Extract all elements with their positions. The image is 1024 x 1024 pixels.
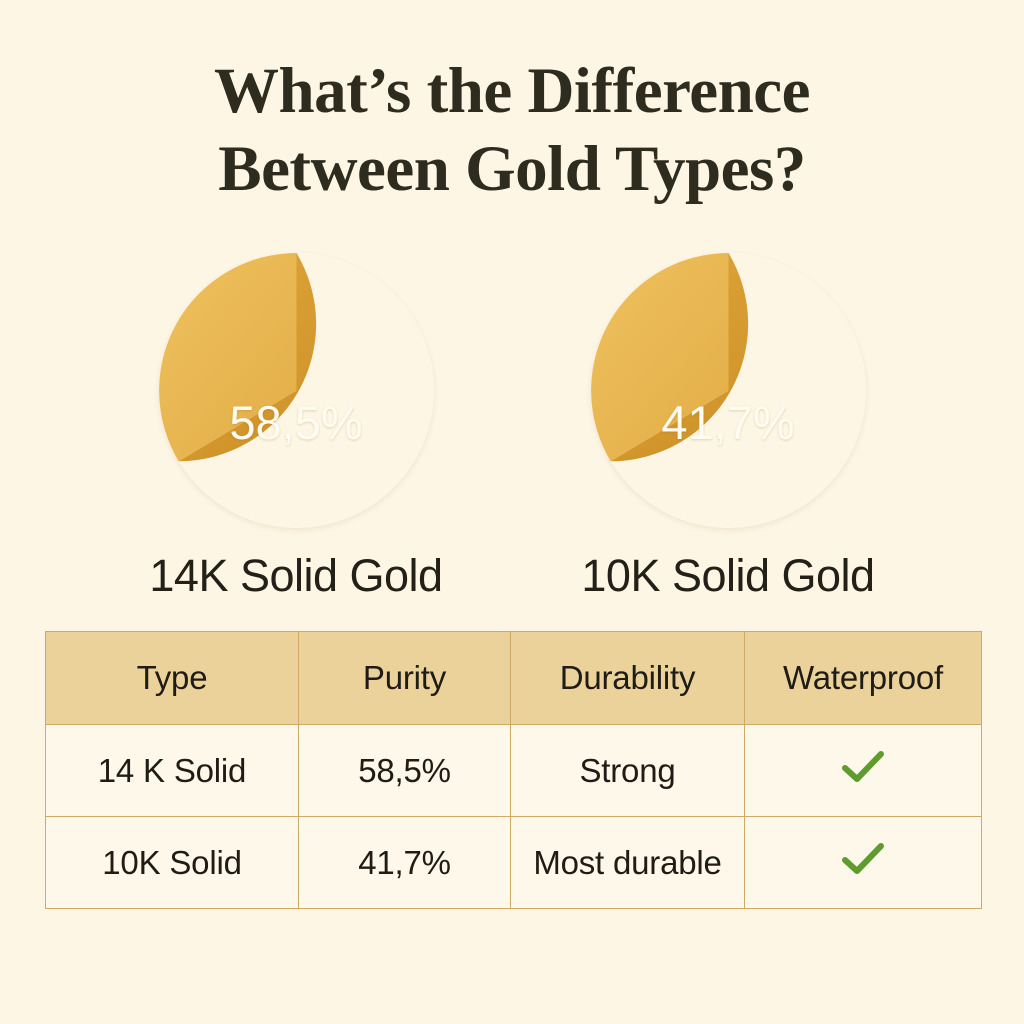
- cell-purity: 58,5%: [299, 725, 511, 817]
- chart-unit-10k: 41,7% 10K Solid Gold: [513, 253, 943, 602]
- table-header-row: Type Purity Durability Waterproof: [46, 632, 982, 725]
- table-row: 10K Solid 41,7% Most durable: [46, 817, 982, 909]
- table-row: 14 K Solid 58,5% Strong: [46, 725, 982, 817]
- check-icon: [842, 750, 884, 784]
- table-header-durability: Durability: [511, 632, 745, 725]
- check-icon: [842, 842, 884, 876]
- infographic-canvas: What’s the Difference Between Gold Types…: [0, 0, 1024, 1024]
- table-header-purity: Purity: [299, 632, 511, 725]
- pie-caption-14k: 14K Solid Gold: [81, 550, 511, 602]
- cell-durability: Most durable: [511, 817, 745, 909]
- pie-charts-row: 58,5% 14K Solid Gold: [0, 253, 1024, 598]
- cell-waterproof: [745, 725, 982, 817]
- pie-chart-10k-svg: [591, 253, 866, 528]
- cell-durability: Strong: [511, 725, 745, 817]
- cell-purity: 41,7%: [299, 817, 511, 909]
- comparison-table: Type Purity Durability Waterproof 14 K S…: [45, 631, 982, 909]
- pie-chart-10k: 41,7%: [591, 253, 866, 528]
- table-header-waterproof: Waterproof: [745, 632, 982, 725]
- cell-type: 10K Solid: [46, 817, 299, 909]
- title-line-1: What’s the Difference: [0, 52, 1024, 130]
- page-title: What’s the Difference Between Gold Types…: [0, 52, 1024, 208]
- pie-caption-10k: 10K Solid Gold: [513, 550, 943, 602]
- comparison-table-wrap: Type Purity Durability Waterproof 14 K S…: [45, 631, 981, 909]
- cell-type: 14 K Solid: [46, 725, 299, 817]
- table-header: Type Purity Durability Waterproof: [46, 632, 982, 725]
- title-line-2: Between Gold Types?: [0, 130, 1024, 208]
- table-header-type: Type: [46, 632, 299, 725]
- pie-chart-14k: 58,5%: [159, 253, 434, 528]
- chart-unit-14k: 58,5% 14K Solid Gold: [81, 253, 511, 602]
- pie-chart-14k-svg: [159, 253, 434, 528]
- pie-value-10k: 41,7%: [591, 395, 866, 451]
- pie-value-14k: 58,5%: [159, 395, 434, 451]
- cell-waterproof: [745, 817, 982, 909]
- table-body: 14 K Solid 58,5% Strong 10K Solid 41,7%: [46, 725, 982, 909]
